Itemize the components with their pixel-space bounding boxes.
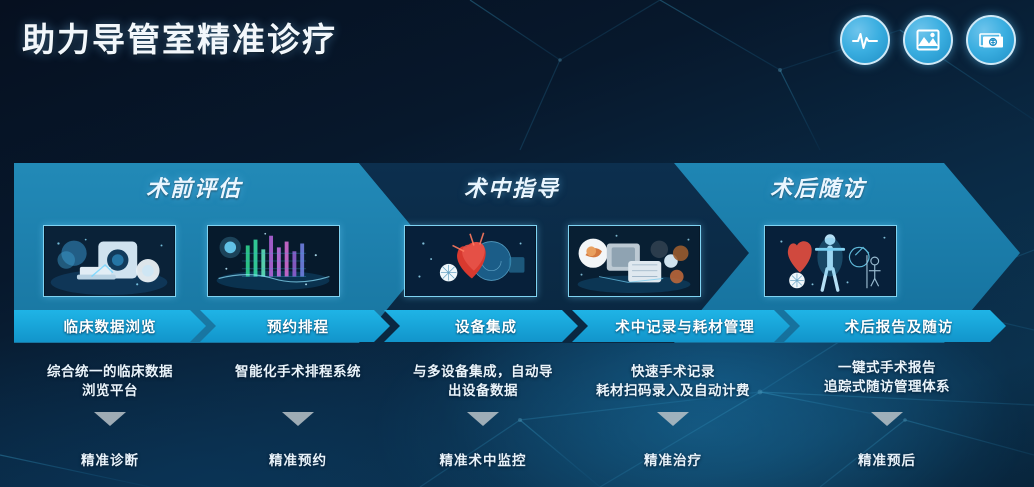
chevron-down-icon-5 xyxy=(871,412,903,426)
header-icon-group xyxy=(840,15,1016,65)
ribbon-label: 术后报告及随访 xyxy=(845,316,954,337)
ribbon-label: 临床数据浏览 xyxy=(64,316,157,337)
chevron-down-icon-1 xyxy=(94,412,126,426)
outcome-precise-treatment: 精准治疗 xyxy=(566,449,780,469)
stage-label-post-op: 术后随访 xyxy=(770,171,866,203)
desc-device-integration: 与多设备集成，自动导 出设备数据 xyxy=(388,362,578,400)
surgical-equipment-thumb[interactable] xyxy=(568,225,701,297)
desc-scheduling: 智能化手术排程系统 xyxy=(206,362,390,381)
chevron-down-icon-3 xyxy=(467,412,499,426)
header: 助力导管室精准诊疗 xyxy=(0,0,1034,88)
desc-postop-report-followup: 一键式手术报告 追踪式随访管理体系 xyxy=(778,358,996,396)
data-grid-thumb[interactable] xyxy=(207,225,340,297)
chevron-down-icon-2 xyxy=(282,412,314,426)
heart-sphere-thumb[interactable] xyxy=(404,225,537,297)
chart-image-icon[interactable] xyxy=(903,15,953,65)
chevron-down-icon-4 xyxy=(657,412,689,426)
slide-root: 助力导管室精准诊疗 xyxy=(0,0,1034,487)
ribbon-step-scheduling[interactable]: 预约排程 xyxy=(206,310,390,342)
money-icon[interactable] xyxy=(966,15,1016,65)
ribbon-step-intraop-record-consumables[interactable]: 术中记录与耗材管理 xyxy=(580,310,790,342)
stage-label-intra-op: 术中指导 xyxy=(464,171,560,203)
ribbon-label: 设备集成 xyxy=(455,316,517,337)
desc-clinical-data-browse: 综合统一的临床数据 浏览平台 xyxy=(14,362,206,400)
ribbon-step-clinical-data-browse[interactable]: 临床数据浏览 xyxy=(14,310,206,342)
outcome-precise-diagnosis: 精准诊断 xyxy=(14,449,206,469)
outcome-precise-intraop-monitoring: 精准术中监控 xyxy=(388,449,578,469)
page-title: 助力导管室精准诊疗 xyxy=(22,20,337,60)
stage-label-pre-op: 术前评估 xyxy=(146,171,242,203)
outcome-precise-appointment: 精准预约 xyxy=(206,449,390,469)
human-body-thumb[interactable] xyxy=(764,225,897,297)
ribbon-step-device-integration[interactable]: 设备集成 xyxy=(394,310,578,342)
ribbon-step-postop-report-followup[interactable]: 术后报告及随访 xyxy=(792,310,1006,342)
step-ribbon: 临床数据浏览 预约排程 设备集成 术中记录与耗材管理 术后报告及随访 xyxy=(14,310,1020,342)
pulse-icon[interactable] xyxy=(840,15,890,65)
desc-intraop-record-consumables: 快速手术记录 耗材扫码录入及自动计费 xyxy=(566,362,780,400)
ct-scanner-thumb[interactable] xyxy=(43,225,176,297)
ribbon-label: 术中记录与耗材管理 xyxy=(615,316,755,337)
outcome-precise-prognosis: 精准预后 xyxy=(778,449,996,469)
ribbon-label: 预约排程 xyxy=(267,316,329,337)
